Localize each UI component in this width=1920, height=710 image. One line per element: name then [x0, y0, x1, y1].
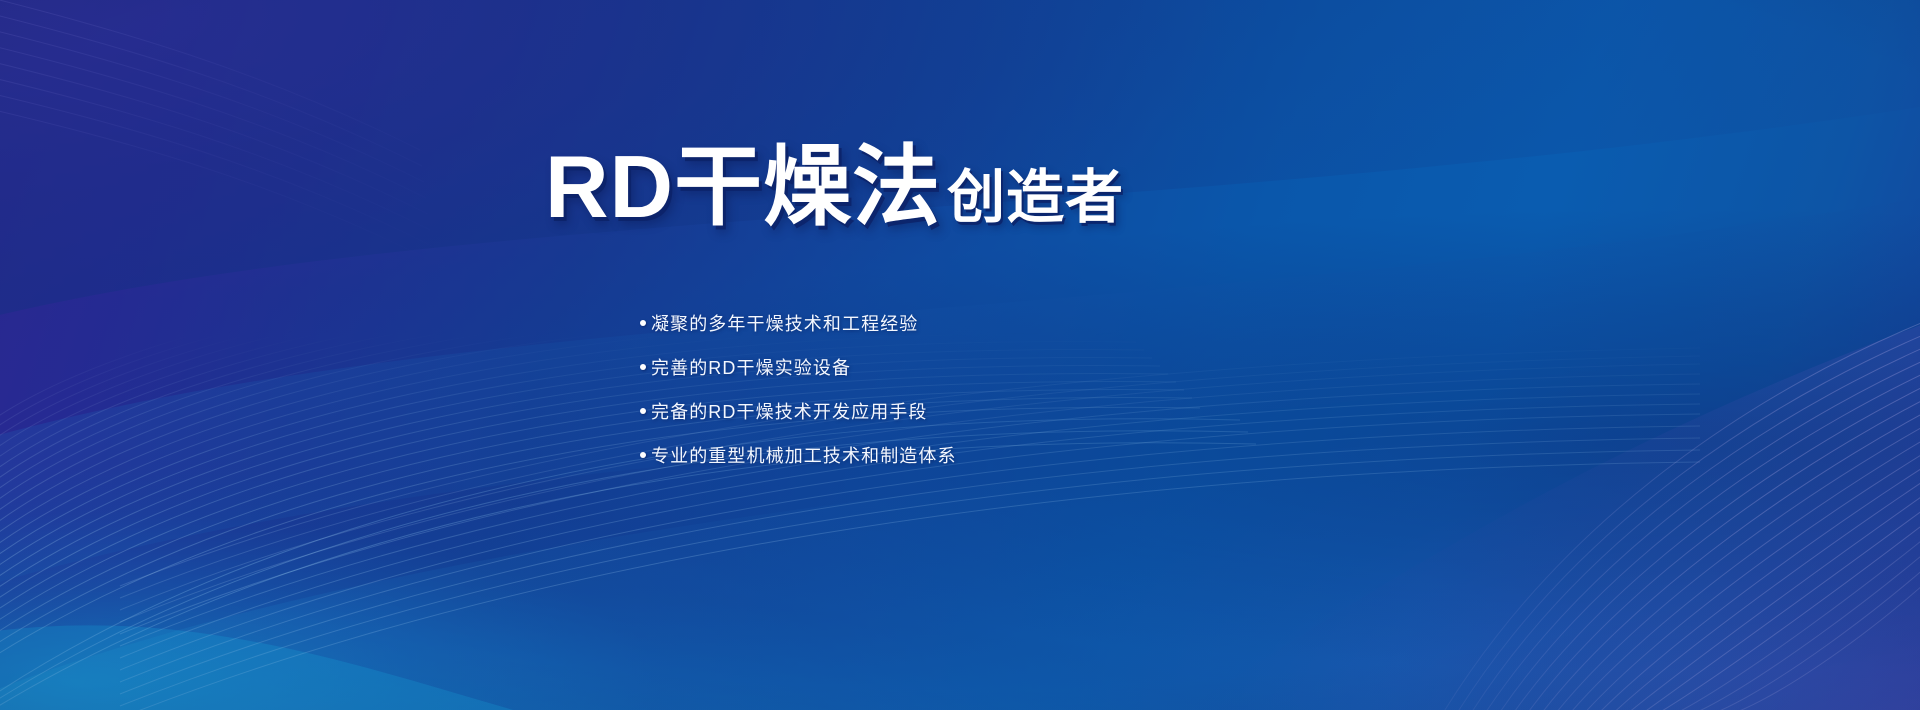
- bullet-list-item: 完备的RD干燥技术开发应用手段: [640, 398, 957, 428]
- bullet-item-label: 完备的RD干燥技术开发应用手段: [651, 398, 928, 424]
- bullet-item-label: 凝聚的多年干燥技术和工程经验: [651, 310, 918, 336]
- bullet-item-label: 专业的重型机械加工技术和制造体系: [651, 442, 957, 468]
- bullet-dot-icon: [640, 452, 646, 458]
- bullet-list-item: 专业的重型机械加工技术和制造体系: [640, 442, 957, 472]
- banner-headline: RD干燥法创造者: [545, 143, 1124, 231]
- feature-bullet-list: 凝聚的多年干燥技术和工程经验 完善的RD干燥实验设备 完备的RD干燥技术开发应用…: [640, 310, 957, 486]
- bullet-list-item: 凝聚的多年干燥技术和工程经验: [640, 310, 957, 340]
- bullet-dot-icon: [640, 320, 646, 326]
- bullet-list-item: 完善的RD干燥实验设备: [640, 354, 957, 384]
- hero-banner: RD干燥法创造者 凝聚的多年干燥技术和工程经验 完善的RD干燥实验设备 完备的R…: [0, 0, 1920, 710]
- bullet-dot-icon: [640, 408, 646, 414]
- banner-content: RD干燥法创造者 凝聚的多年干燥技术和工程经验 完善的RD干燥实验设备 完备的R…: [0, 0, 1920, 710]
- bullet-dot-icon: [640, 364, 646, 370]
- headline-main-text: RD干燥法: [545, 137, 941, 236]
- bullet-item-label: 完善的RD干燥实验设备: [651, 354, 851, 380]
- headline-sub-text: 创造者: [947, 165, 1124, 230]
